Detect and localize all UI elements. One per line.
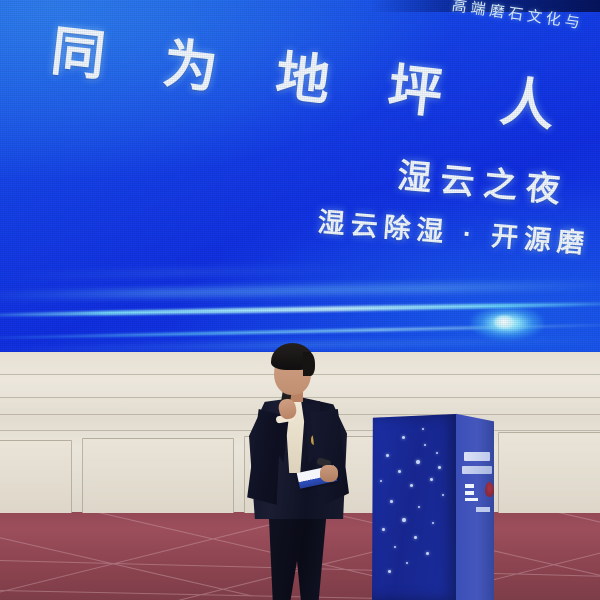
screen-headline: 同 为 地 坪 人 共 筑 bbox=[48, 6, 600, 169]
light-streak bbox=[0, 265, 390, 280]
podium-banner-line-1 bbox=[464, 452, 490, 461]
presenter bbox=[243, 343, 353, 600]
podium-logo-icon bbox=[465, 484, 487, 506]
light-streak bbox=[0, 323, 600, 341]
screen-tagline: 湿云除湿 · 开源磨 bbox=[316, 200, 591, 261]
led-screen: 高端磨石文化与 同 为 地 坪 人 共 筑 湿云之夜 湿云除湿 · 开源磨 bbox=[0, 0, 600, 352]
presenter-hair-side bbox=[303, 352, 315, 376]
presenter-arm-left bbox=[245, 409, 281, 505]
presenter-hand-right bbox=[320, 465, 338, 482]
screen-corner-text: 高端磨石文化与 bbox=[451, 0, 586, 33]
presenter-legs bbox=[265, 515, 329, 600]
light-streak bbox=[0, 280, 600, 301]
podium-star-dots bbox=[372, 414, 456, 600]
lens-flare-icon bbox=[470, 306, 544, 340]
podium-logo-subtext bbox=[476, 507, 490, 512]
wall-panel bbox=[498, 432, 600, 513]
wall-panel bbox=[82, 438, 234, 513]
screen-subtitle: 湿云之夜 bbox=[396, 148, 572, 212]
podium-banner-line-2 bbox=[462, 466, 492, 474]
stage-photo: 高端磨石文化与 同 为 地 坪 人 共 筑 湿云之夜 湿云除湿 · 开源磨 bbox=[0, 0, 600, 600]
screen-top-band bbox=[370, 0, 600, 12]
wall-panel bbox=[0, 440, 72, 513]
podium-logo-accent bbox=[485, 482, 494, 497]
podium bbox=[372, 408, 494, 600]
light-streak bbox=[0, 301, 600, 319]
lens-flare-core bbox=[494, 315, 514, 329]
